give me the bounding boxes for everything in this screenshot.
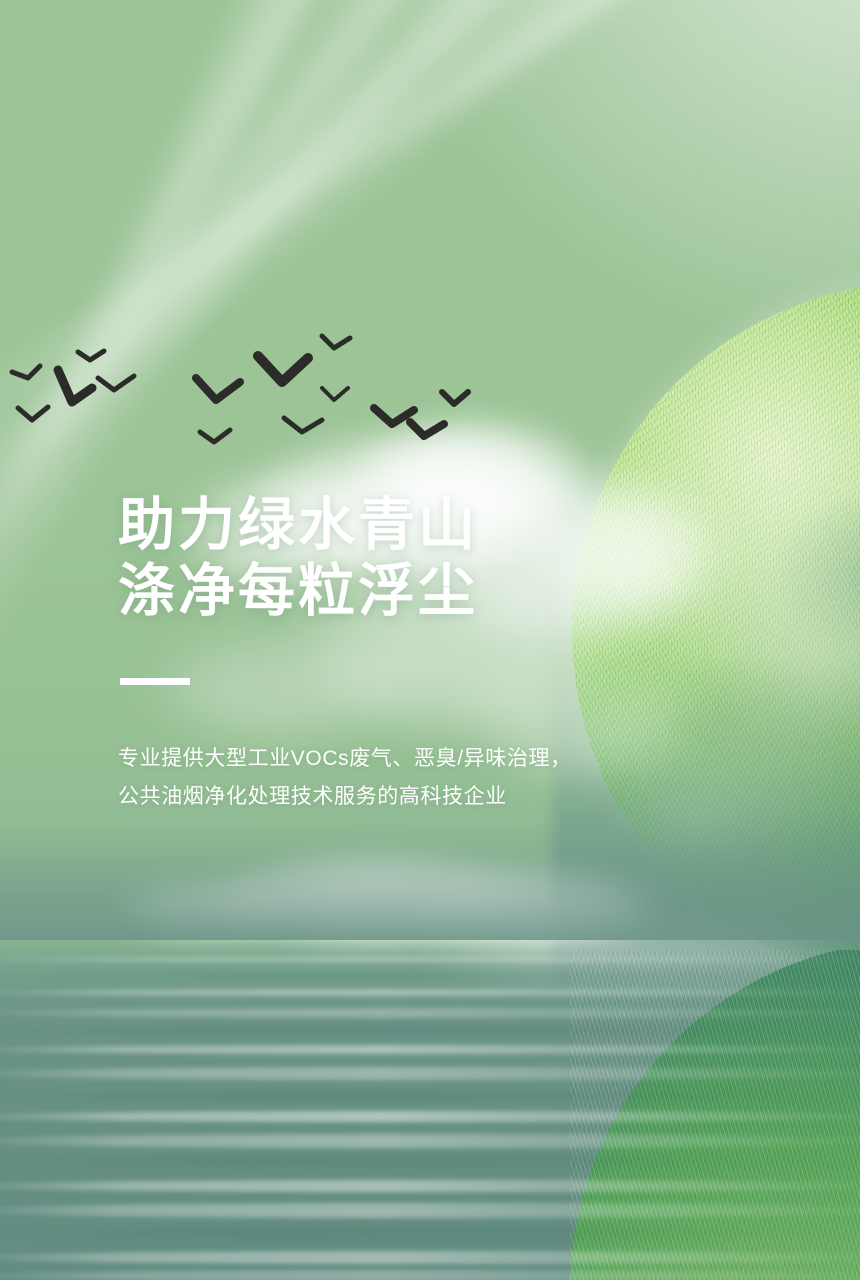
bird-icon [12,366,40,378]
hero-copy: 助力绿水青山 涤净每粒浮尘 专业提供大型工业VOCs废气、恶臭/异味治理， 公共… [118,492,678,817]
bird-icon [322,336,350,348]
reflection-sphere [570,950,860,1280]
headline-line-2: 涤净每粒浮尘 [118,558,678,624]
globe-reflection [560,950,860,1280]
bird-icon [322,388,348,400]
subtitle: 专业提供大型工业VOCs废气、恶臭/异味治理， 公共油烟净化处理技术服务的高科技… [118,740,678,816]
reflection-texture [570,950,860,1280]
subtitle-line-2: 公共油烟净化处理技术服务的高科技企业 [118,778,678,816]
bird-icon [284,418,322,432]
bird-icon [442,392,468,404]
water-horizon-fade [0,820,860,940]
headline-divider [120,678,190,685]
bird-icon [78,351,104,360]
bird-icon [98,376,134,390]
subtitle-line-1: 专业提供大型工业VOCs废气、恶臭/异味治理， [118,740,678,778]
bird-icon [58,370,92,402]
headline-line-1: 助力绿水青山 [118,492,678,558]
bird-icon [18,407,48,420]
hero-banner: 助力绿水青山 涤净每粒浮尘 专业提供大型工业VOCs废气、恶臭/异味治理， 公共… [0,0,860,1280]
bird-icon [410,422,444,436]
flying-birds-flock [0,330,470,470]
bird-icon [200,430,230,442]
bird-icon [258,356,308,382]
bird-icon [196,378,240,400]
